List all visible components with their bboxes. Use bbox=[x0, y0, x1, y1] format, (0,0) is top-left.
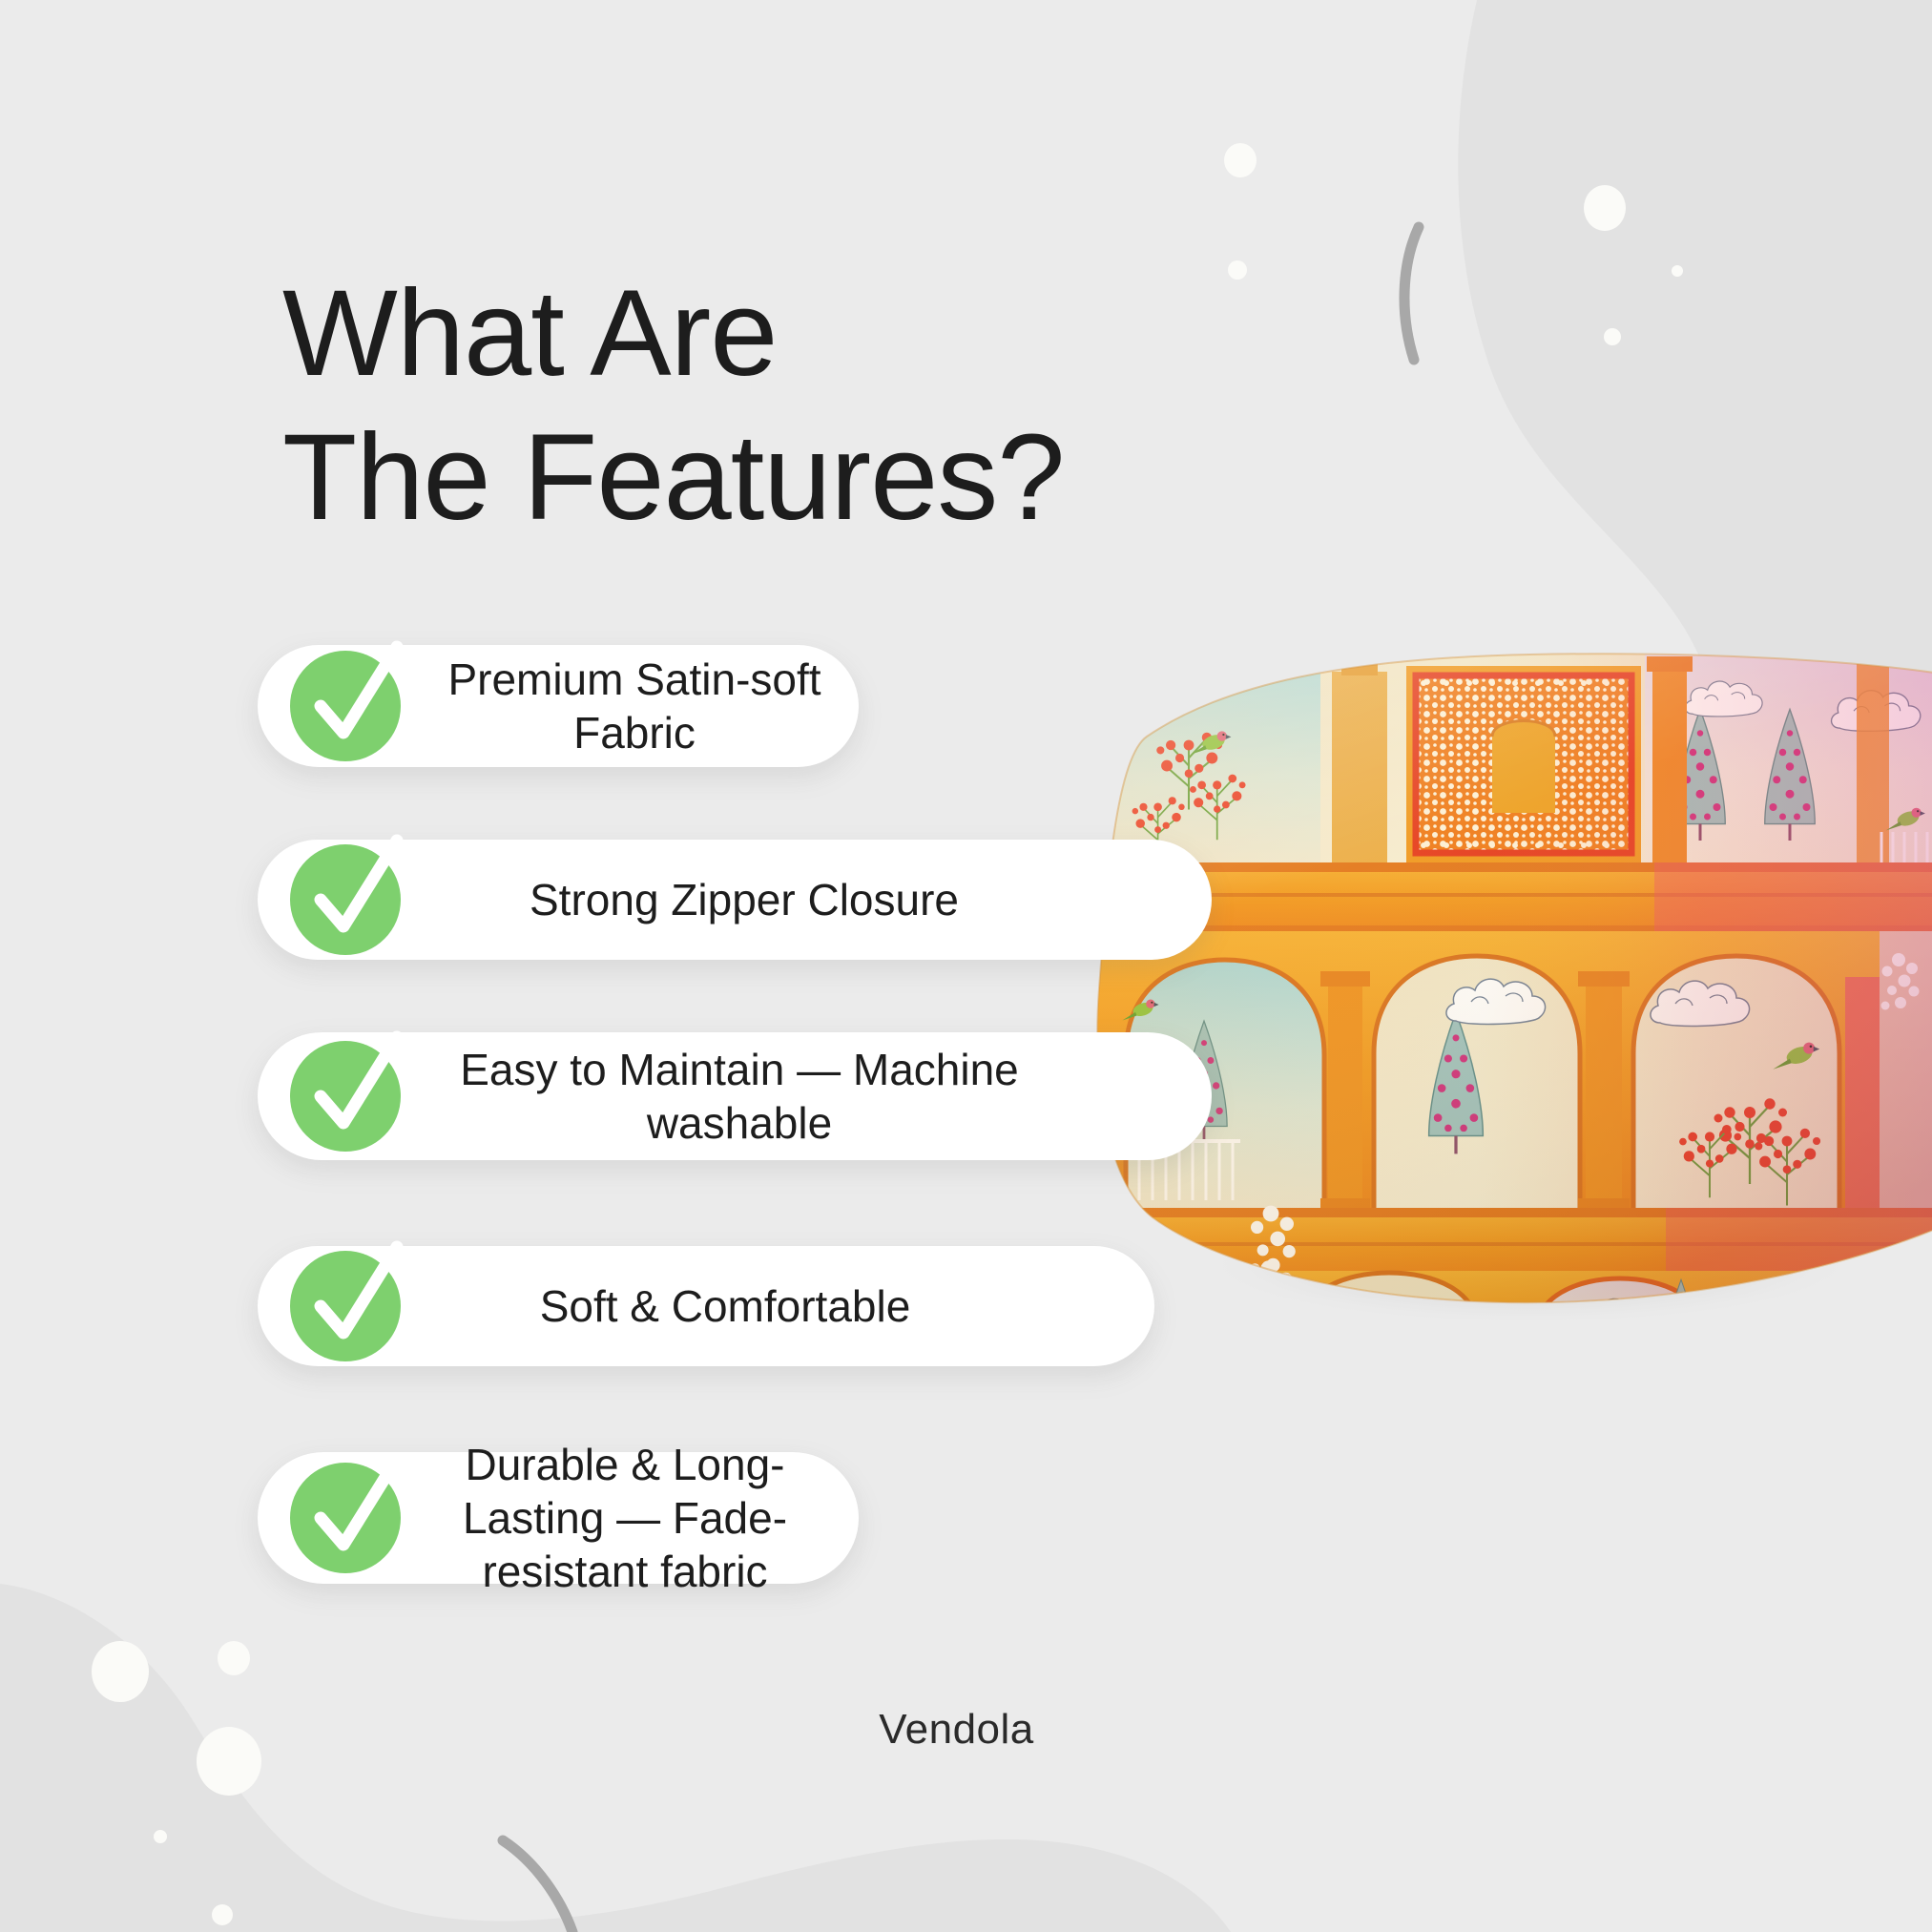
feature-list: Premium Satin-soft Fabric Strong Zipper … bbox=[0, 0, 1932, 1932]
feature-poster: What AreThe Features? bbox=[0, 0, 1932, 1932]
check-circle-icon bbox=[290, 651, 401, 761]
feature-item-4[interactable]: Soft & Comfortable bbox=[258, 1246, 1154, 1366]
feature-label: Soft & Comfortable bbox=[420, 1279, 1030, 1333]
check-circle-icon bbox=[290, 844, 401, 955]
brand-name-text: Vendola bbox=[879, 1706, 1034, 1754]
brand-name: Vendola bbox=[0, 1706, 1932, 1754]
check-circle-icon bbox=[290, 1041, 401, 1152]
feature-item-2[interactable]: Strong Zipper Closure bbox=[258, 840, 1212, 960]
feature-item-1[interactable]: Premium Satin-soft Fabric bbox=[258, 645, 859, 767]
feature-item-5[interactable]: Durable & Long-Lasting — Fade-resistant … bbox=[258, 1452, 859, 1584]
check-circle-icon bbox=[290, 1251, 401, 1361]
feature-label: Premium Satin-soft Fabric bbox=[420, 653, 849, 759]
feature-label: Strong Zipper Closure bbox=[420, 873, 1069, 926]
feature-label: Durable & Long-Lasting — Fade-resistant … bbox=[401, 1438, 849, 1598]
check-circle-icon bbox=[290, 1463, 401, 1573]
feature-item-3[interactable]: Easy to Maintain — Machine washable bbox=[258, 1032, 1212, 1160]
feature-label: Easy to Maintain — Machine washable bbox=[420, 1043, 1059, 1150]
